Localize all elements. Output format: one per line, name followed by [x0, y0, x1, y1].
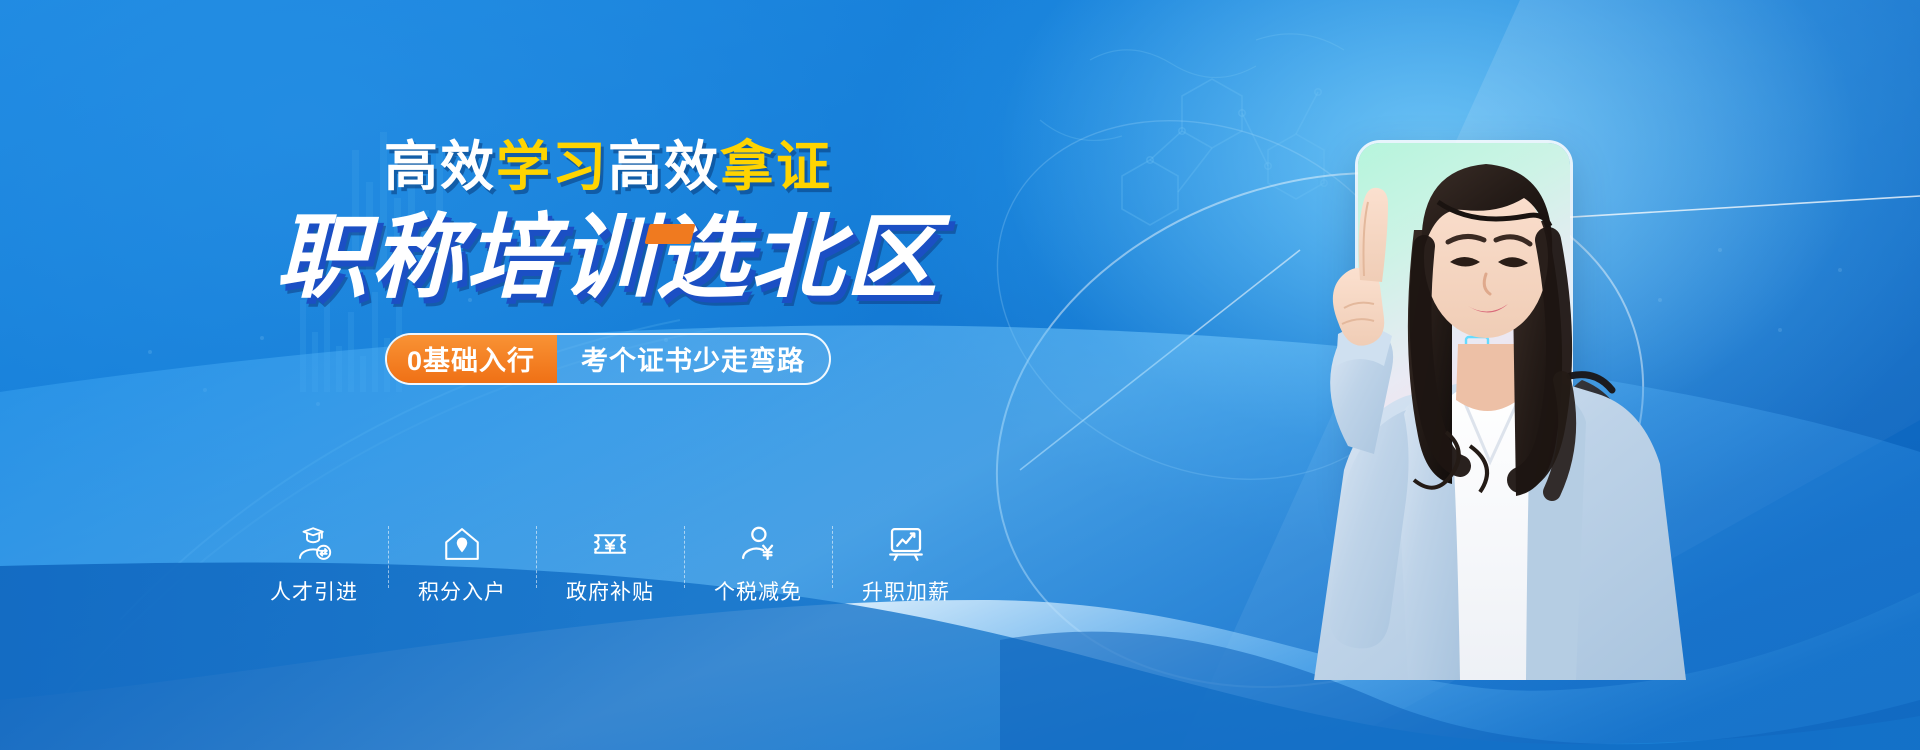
feature-item-government-subsidy[interactable]: 政府补贴 [536, 522, 684, 606]
hero-stage [1020, 0, 1920, 750]
ticket-yuan-icon [588, 522, 632, 566]
feature-item-points-residency[interactable]: 积分入户 [388, 522, 536, 606]
feature-label: 个税减免 [714, 576, 802, 606]
headline-segment-3: 高效 [608, 137, 720, 197]
headline-segment-1: 高效 [384, 137, 496, 197]
gradient-card-decoration [1358, 143, 1570, 515]
person-yuan-icon [736, 522, 780, 566]
house-pin-icon [440, 522, 484, 566]
feature-item-promotion-raise[interactable]: 升职加薪 [832, 522, 980, 606]
copy-block: 高效学习高效拿证 职称培训选北区 0基础入行 考个证书少走弯路 [258, 140, 958, 385]
chart-board-icon [884, 522, 928, 566]
feature-label: 升职加薪 [862, 576, 950, 606]
feature-label: 政府补贴 [566, 576, 654, 606]
main-title: 职称培训选北区 [275, 207, 940, 309]
main-title-wrap: 职称培训选北区 [258, 210, 958, 307]
feature-item-talent-introduction[interactable]: 人才引进 [240, 522, 388, 606]
promo-banner: 高效学习高效拿证 职称培训选北区 0基础入行 考个证书少走弯路 [0, 0, 1920, 750]
feature-item-tax-reduction[interactable]: 个税减免 [684, 522, 832, 606]
tech-squares-decoration [1460, 285, 1660, 575]
badge-row: 0基础入行 考个证书少走弯路 [258, 333, 958, 385]
headline: 高效学习高效拿证 [258, 140, 958, 194]
feature-row: 人才引进 积分入户 政府补贴 [240, 522, 980, 606]
headline-segment-4: 拿证 [720, 137, 832, 197]
tagline-badge[interactable]: 0基础入行 考个证书少走弯路 [385, 333, 831, 385]
badge-left-label: 0基础入行 [385, 333, 557, 385]
feature-label: 人才引进 [270, 576, 358, 606]
feature-label: 积分入户 [418, 576, 506, 606]
title-orange-accent [645, 224, 696, 244]
graduate-person-icon [292, 522, 336, 566]
badge-right-label: 考个证书少走弯路 [557, 335, 829, 383]
headline-segment-2: 学习 [496, 137, 608, 197]
hero-person-photo [1210, 80, 1750, 680]
